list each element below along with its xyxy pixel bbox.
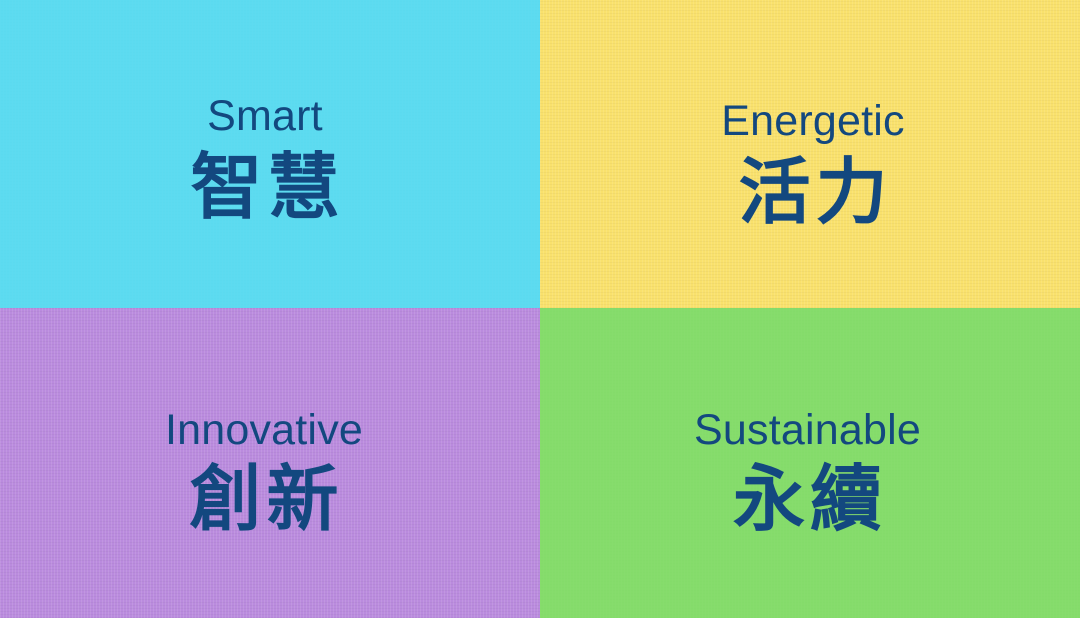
quadrant-sustainable-chinese-label: 永續 bbox=[694, 463, 921, 535]
label-stack-innovative: Innovative 創新 bbox=[165, 409, 363, 535]
quadrant-sustainable: Sustainable 永續 bbox=[540, 308, 1080, 618]
quadrant-sustainable-english-label: Sustainable bbox=[694, 409, 921, 452]
quadrant-innovative-english-label: Innovative bbox=[165, 409, 363, 452]
label-stack-energetic: Energetic 活力 bbox=[721, 100, 904, 228]
quadrant-smart-english-label: Smart bbox=[185, 95, 344, 138]
quadrant-innovative: Innovative 創新 bbox=[0, 308, 540, 618]
quadrant-energetic-chinese-label: 活力 bbox=[721, 156, 904, 228]
quadrant-smart-chinese-label: 智慧 bbox=[185, 151, 344, 223]
label-stack-sustainable: Sustainable 永續 bbox=[694, 409, 921, 535]
quadrant-smart: Smart 智慧 bbox=[0, 0, 540, 308]
quadrant-energetic-english-label: Energetic bbox=[721, 100, 904, 143]
quadrant-innovative-chinese-label: 創新 bbox=[165, 463, 363, 535]
quadrant-energetic: Energetic 活力 bbox=[540, 0, 1080, 308]
label-stack-smart: Smart 智慧 bbox=[185, 95, 344, 223]
brand-values-quadrant-board: Smart 智慧 Energetic 活力 Innovative 創新 Sust… bbox=[0, 0, 1080, 618]
